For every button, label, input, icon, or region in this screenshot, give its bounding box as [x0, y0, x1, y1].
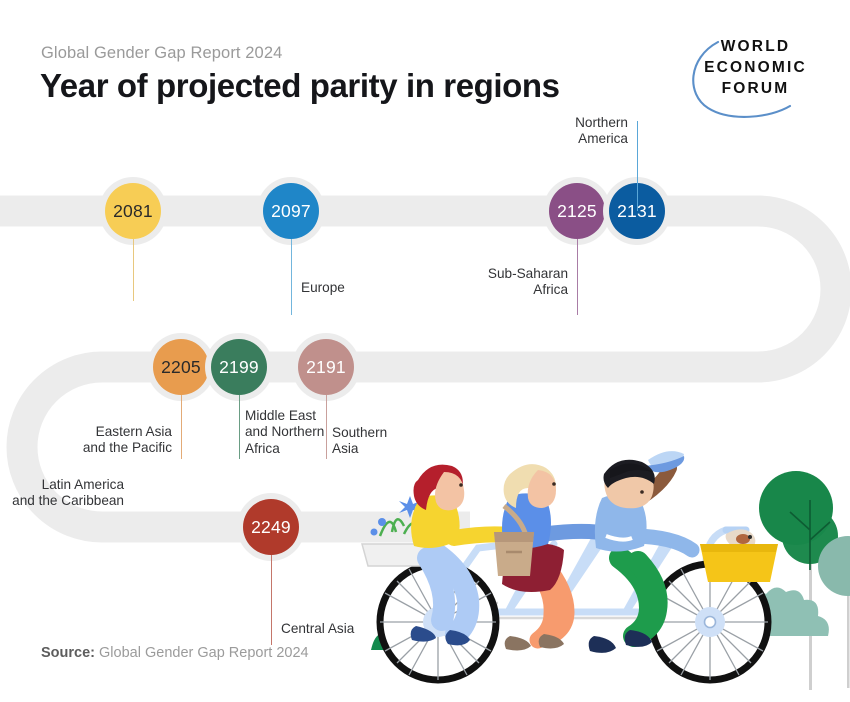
- node-value: 2249: [251, 517, 291, 538]
- node-stem: [326, 395, 327, 459]
- node-value: 2097: [271, 201, 311, 222]
- infographic-canvas: Global Gender Gap Report 2024 Year of pr…: [0, 0, 850, 702]
- node-stem: [181, 395, 182, 459]
- node-value-bubble[interactable]: 2199: [211, 339, 267, 395]
- node-value-bubble[interactable]: 2125: [549, 183, 605, 239]
- node-label: Northern America: [408, 115, 628, 148]
- node-label: Eastern Asia and the Pacific: [0, 424, 172, 457]
- node-value-bubble[interactable]: 2097: [263, 183, 319, 239]
- node-stem: [133, 239, 134, 301]
- node-stem: [291, 239, 292, 315]
- node-value: 2191: [306, 357, 346, 378]
- node-stem: [239, 395, 240, 459]
- small-tree-icon: [818, 536, 850, 688]
- node-value: 2205: [161, 357, 201, 378]
- node-stem: [271, 555, 272, 645]
- node-value-bubble[interactable]: 2081: [105, 183, 161, 239]
- node-value-bubble[interactable]: 2205: [153, 339, 209, 395]
- node-stem: [577, 239, 578, 315]
- source-line: Source: Global Gender Gap Report 2024: [41, 645, 309, 661]
- node-value: 2199: [219, 357, 259, 378]
- source-label: Source:: [41, 645, 95, 661]
- node-label: Sub-Saharan Africa: [338, 266, 568, 299]
- node-value: 2081: [113, 201, 153, 222]
- node-value: 2125: [557, 201, 597, 222]
- source-text: Global Gender Gap Report 2024: [99, 645, 309, 661]
- node-label: Latin America and the Caribbean: [0, 477, 124, 510]
- node-value-bubble[interactable]: 2249: [243, 499, 299, 555]
- node-value-bubble[interactable]: 2191: [298, 339, 354, 395]
- tandem-bicycle-illustration: [358, 440, 850, 702]
- node-stem: [637, 121, 638, 211]
